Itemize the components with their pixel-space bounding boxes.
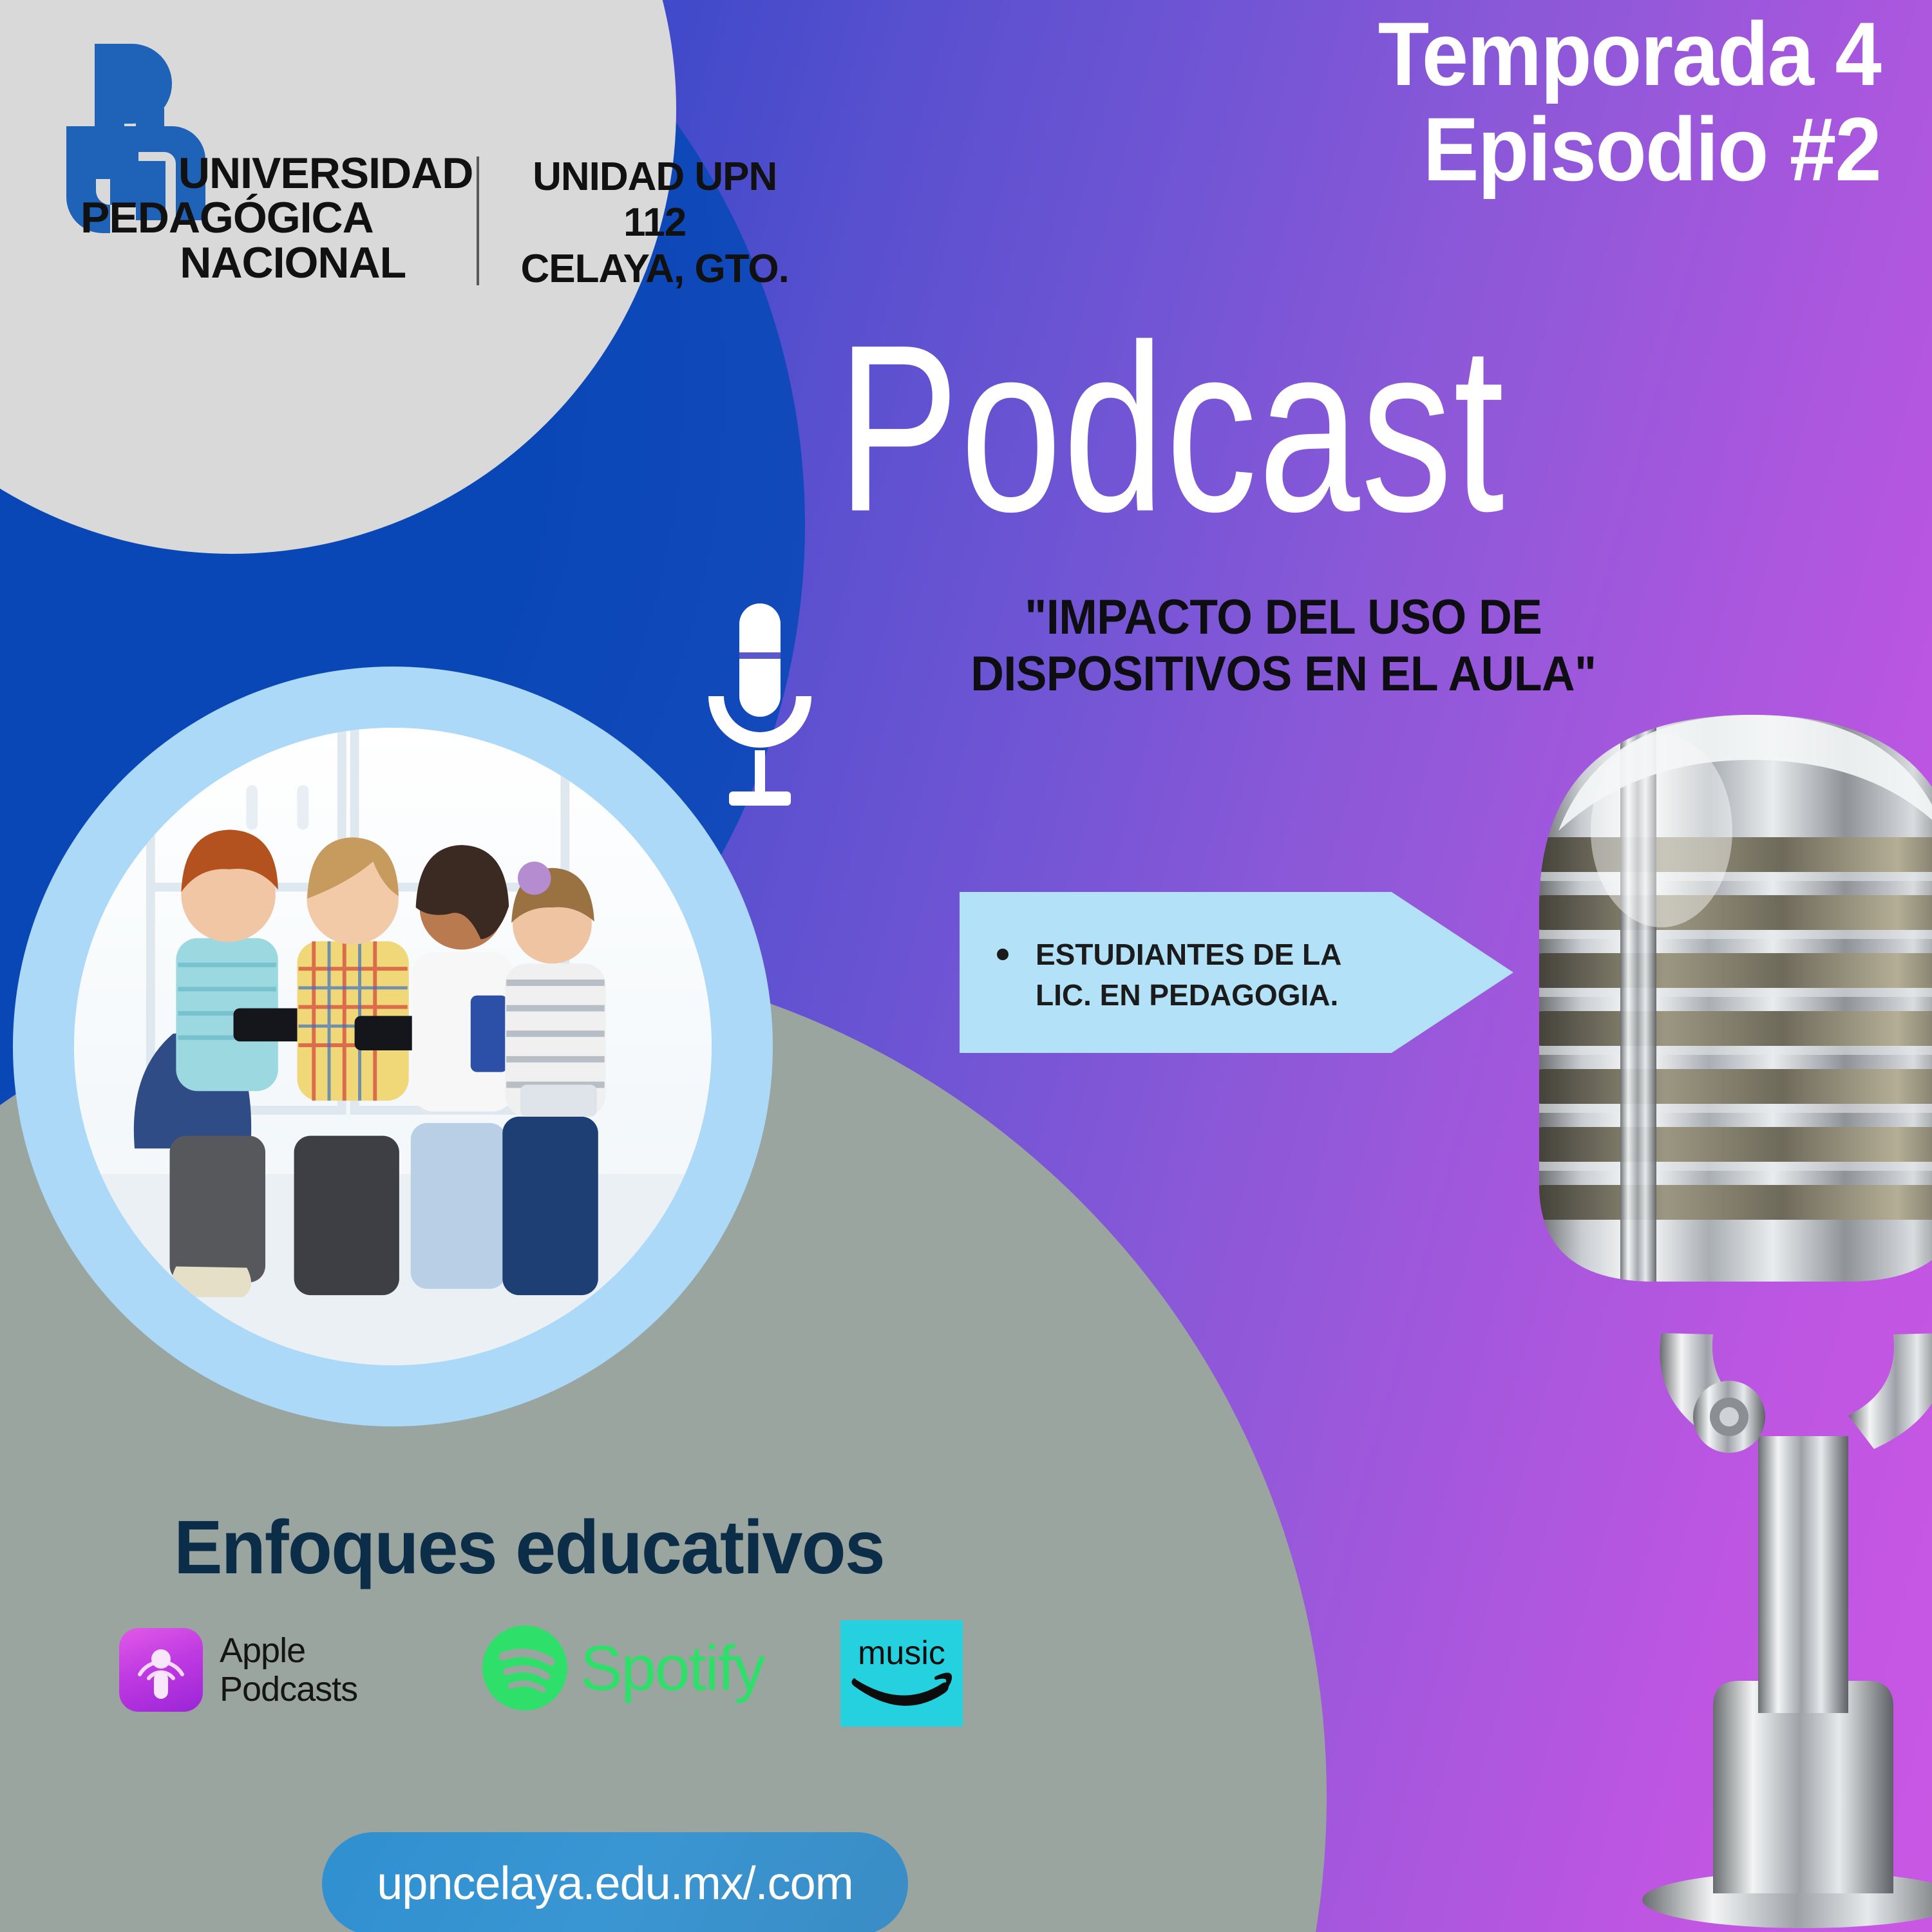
platform-spotify[interactable]: Spotify — [480, 1623, 764, 1713]
audience-line-1: ESTUDIANTES DE LA — [1036, 934, 1341, 975]
svg-text:music: music — [858, 1634, 945, 1672]
platform-amazon-music[interactable]: music — [840, 1620, 963, 1727]
bullet-icon — [997, 949, 1009, 960]
platform-apple-podcasts[interactable]: Apple Podcasts — [119, 1628, 357, 1712]
photo-ring — [13, 667, 773, 1426]
apple-label-line-1: Apple — [220, 1631, 357, 1670]
unit-name: UNIDAD UPN 112 CELAYA, GTO. — [501, 151, 808, 292]
apple-label-line-2: Podcasts — [220, 1670, 357, 1709]
season-line: Temporada 4 — [1378, 6, 1880, 102]
platform-badges: Apple Podcasts Spotify musi — [119, 1628, 1021, 1744]
university-line-1: UNIVERSIDAD — [74, 151, 473, 196]
audience-callout-text: ESTUDIANTES DE LA LIC. EN PEDAGOGIA. — [997, 934, 1383, 1015]
unit-line-2: CELAYA, GTO. — [501, 246, 808, 292]
logo-divider — [477, 156, 479, 285]
episode-topic-title: "IMPACTO DEL USO DE DISPOSITIVOS EN EL A… — [960, 589, 1607, 703]
episode-topic-line-2: DISPOSITIVOS EN EL AULA" — [960, 646, 1607, 703]
photo-illustration — [74, 728, 712, 1365]
podcast-poster: UNIVERSIDAD PEDAGÓGICA NACIONAL UNIDAD U… — [0, 0, 1932, 1932]
season-episode-title: Temporada 4 Episodio #2 — [1378, 6, 1880, 198]
unit-line-1: UNIDAD UPN 112 — [501, 154, 808, 246]
apple-podcasts-label: Apple Podcasts — [220, 1631, 357, 1709]
audience-callout: ESTUDIANTES DE LA LIC. EN PEDAGOGIA. — [960, 892, 1513, 1053]
spotify-icon — [480, 1623, 570, 1713]
website-pill[interactable]: upncelaya.edu.mx/.com — [322, 1832, 908, 1932]
show-title: Enfoques educativos — [174, 1504, 884, 1591]
apple-podcasts-icon — [119, 1628, 203, 1712]
upn-logo-text: UNIVERSIDAD PEDAGÓGICA NACIONAL UNIDAD U… — [74, 151, 808, 292]
episode-line: Episodio #2 — [1378, 102, 1880, 197]
spotify-label: Spotify — [580, 1636, 764, 1700]
website-url: upncelaya.edu.mx/.com — [377, 1857, 853, 1910]
university-name: UNIVERSIDAD PEDAGÓGICA NACIONAL — [74, 151, 473, 285]
audience-line-2: LIC. EN PEDAGOGIA. — [1036, 975, 1341, 1016]
university-line-3: NACIONAL — [74, 241, 473, 285]
amazon-music-icon: music — [840, 1620, 963, 1727]
episode-topic-line-1: "IMPACTO DEL USO DE — [960, 589, 1607, 646]
upn-logo-block: UNIVERSIDAD PEDAGÓGICA NACIONAL UNIDAD U… — [39, 26, 799, 245]
retro-microphone-image — [1501, 702, 1932, 1932]
podcast-wordmark: Podcast — [837, 309, 1505, 547]
university-line-2: PEDAGÓGICA — [74, 196, 473, 240]
episode-photo — [74, 728, 712, 1365]
